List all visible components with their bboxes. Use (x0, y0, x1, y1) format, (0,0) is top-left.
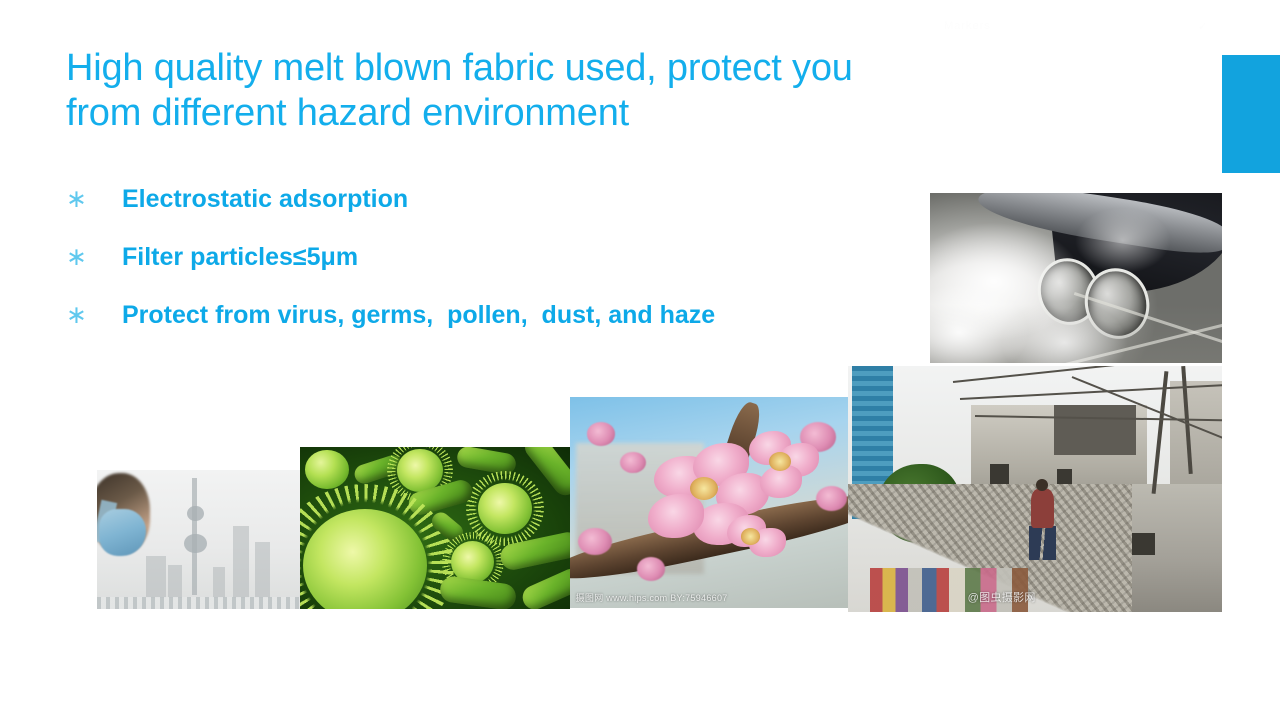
blossom-bud (816, 486, 847, 511)
asterisk-bullet-icon: ∗ (66, 184, 122, 214)
face-mask (99, 509, 146, 556)
skyscraper-shape (255, 542, 269, 598)
blossom-photo-background: 摄图网 www.hips.com BY:75946607 (570, 397, 850, 608)
bullet-item-electrostatic: ∗ Electrostatic adsorption (66, 184, 946, 242)
bullet-label: Filter particles≤5μm (122, 242, 358, 272)
pearl-tower-upper-sphere (187, 506, 203, 521)
blossom-bud (637, 557, 665, 580)
exhaust-photo-background (930, 193, 1222, 363)
bacterium-round (305, 450, 348, 489)
bullet-label: Electrostatic adsorption (122, 184, 408, 214)
skyscraper-shape (146, 556, 166, 598)
blossom-watermark: 摄图网 www.hips.com BY:75946607 (576, 591, 728, 604)
virus-spiky (478, 483, 532, 535)
bacterium-rod (519, 564, 570, 609)
smoke-overlay (930, 193, 1222, 363)
worker-legs (1029, 526, 1055, 560)
germs-photo-background (300, 447, 570, 609)
blossom-bud (620, 452, 645, 473)
wall-window (1132, 533, 1154, 555)
haze-city-photo (97, 470, 300, 609)
skyscraper-shape (233, 526, 249, 598)
slide-title: High quality melt blown fabric used, pro… (66, 46, 1026, 136)
flower-center (690, 477, 718, 500)
slide-title-line-1: High quality melt blown fabric used, pro… (66, 46, 1026, 91)
header-ghost-mark-left: Markers (944, 20, 991, 32)
demolition-photo-background: @图虫摄影网 (848, 366, 1222, 612)
bullet-item-filter: ∗ Filter particles≤5μm (66, 242, 946, 300)
worker-torso (1031, 489, 1053, 528)
demolition-dust-photo: @图虫摄影网 (848, 366, 1222, 612)
flower-center (769, 452, 791, 471)
demolition-watermark: @图虫摄影网 (968, 589, 1036, 605)
dark-wall-section (1054, 405, 1136, 454)
pollen-blossom-photo: 摄图网 www.hips.com BY:75946607 (570, 397, 850, 608)
flower-center (741, 528, 761, 545)
blossom-bud (578, 528, 612, 555)
pearl-tower-lower-sphere (184, 534, 206, 553)
germs-microscopy-photo (300, 447, 570, 609)
presentation-slide: Markers ✓ High quality melt blown fabric… (0, 0, 1280, 720)
bullet-list: ∗ Electrostatic adsorption ∗ Filter part… (66, 184, 946, 358)
exhaust-pipe-photo (930, 193, 1222, 363)
skyscraper-shape (213, 567, 225, 598)
bullet-item-protect: ∗ Protect from virus, germs, pollen, dus… (66, 300, 946, 358)
wall-window (990, 464, 1009, 484)
bacterium-rod (439, 575, 517, 609)
asterisk-bullet-icon: ∗ (66, 242, 122, 272)
header-ghost-mark-right: ✓ (1198, 20, 1208, 33)
wall-window (1057, 469, 1072, 484)
bullet-label: Protect from virus, germs, pollen, dust,… (122, 300, 715, 330)
blossom-bud (587, 422, 615, 445)
virus-spiky-large (303, 509, 427, 609)
haze-photo-background (97, 470, 300, 609)
bridge-railing (97, 597, 300, 610)
skyscraper-shape (168, 565, 182, 598)
slide-title-line-2: from different hazard environment (66, 91, 1026, 136)
accent-rectangle (1222, 55, 1280, 173)
asterisk-bullet-icon: ∗ (66, 300, 122, 330)
worker-head (1036, 479, 1048, 491)
